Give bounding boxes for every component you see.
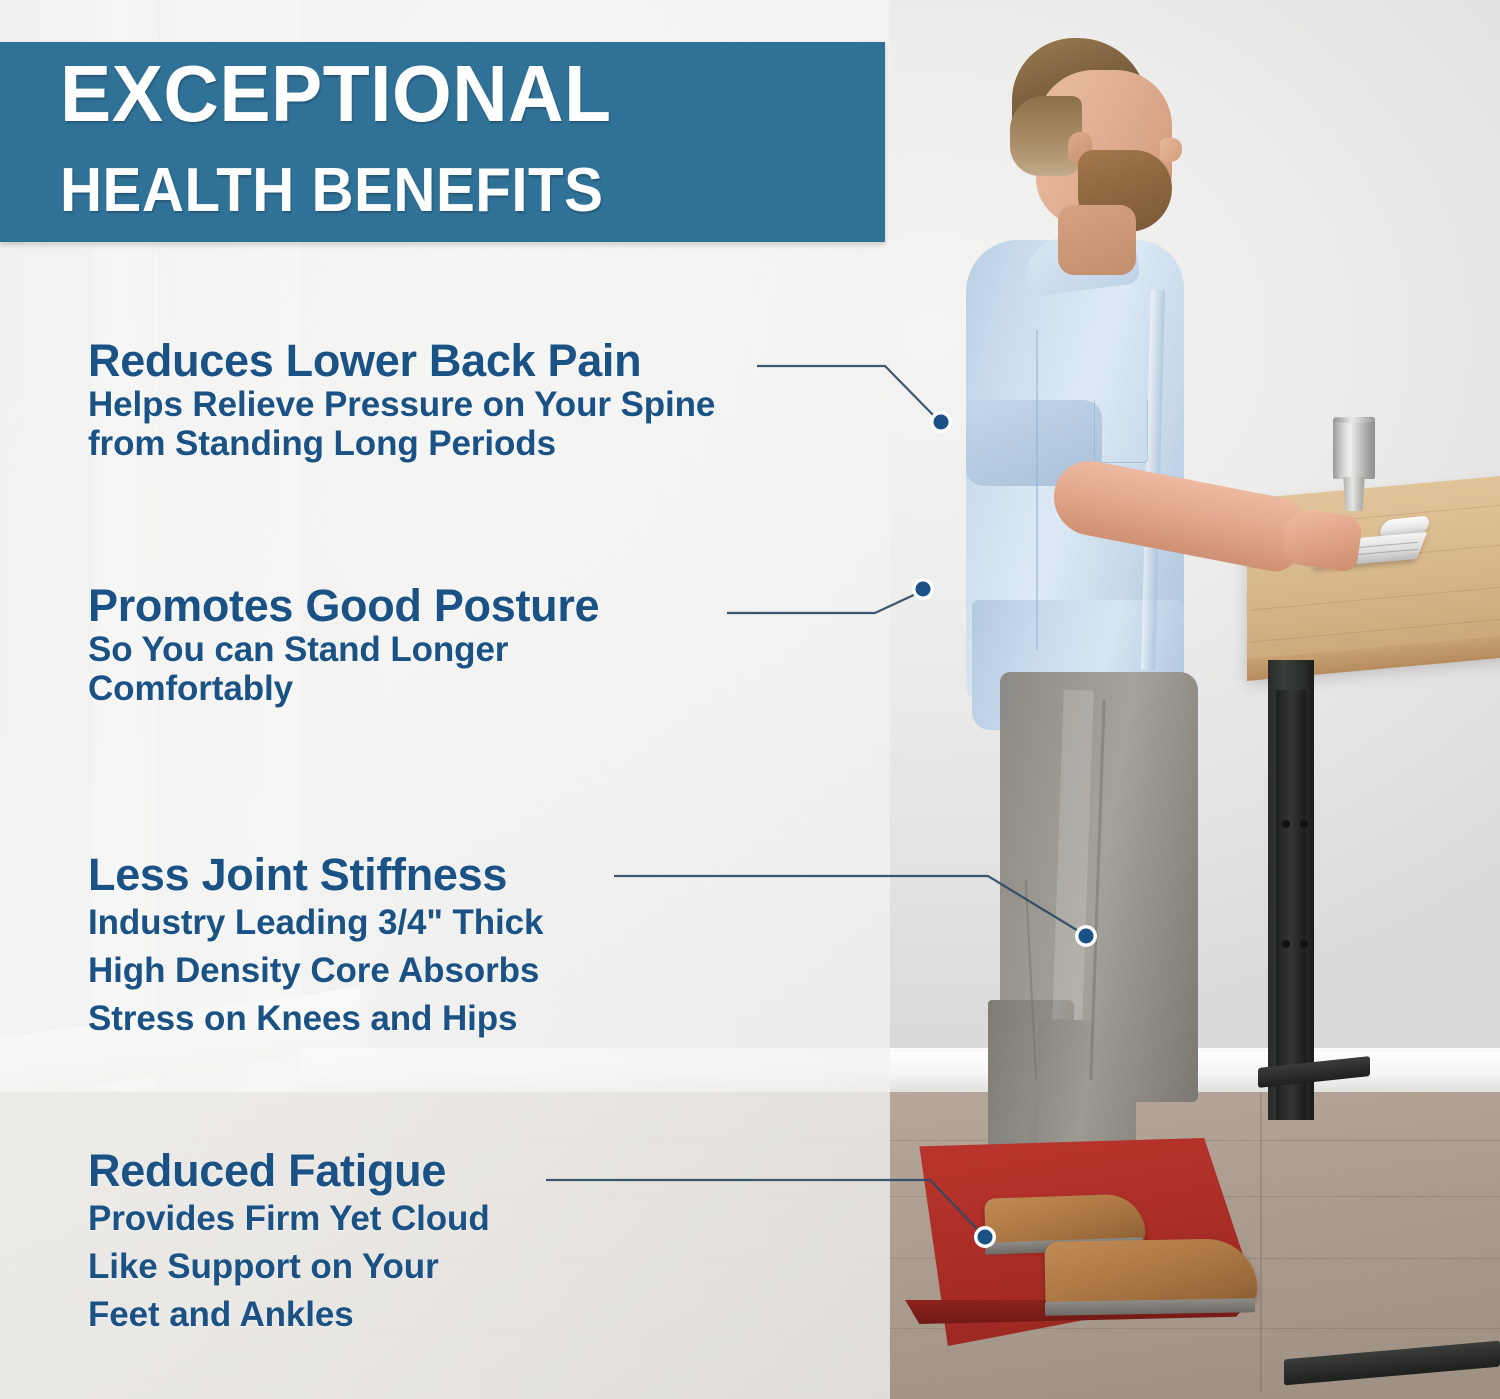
banner-title-line2: HEALTH BENEFITS (60, 160, 603, 222)
benefit-title: Reduced Fatigue (88, 1148, 788, 1195)
benefit-body-line: Stress on Knees and Hips (88, 995, 788, 1043)
banner-title-line1: EXCEPTIONAL (60, 54, 611, 134)
benefit-promotes-good-posture: Promotes Good Posture So You can Stand L… (88, 583, 788, 709)
benefit-body-line: High Density Core Absorbs (88, 947, 788, 995)
benefit-title: Reduces Lower Back Pain (88, 338, 788, 385)
hand (1280, 507, 1363, 573)
benefit-body-line: Helps Relieve Pressure on Your Spine (88, 385, 788, 425)
benefit-body-line: Comfortably (88, 669, 788, 709)
benefit-body: Industry Leading 3/4" Thick High Density… (88, 899, 788, 1044)
benefit-body-line: Like Support on Your (88, 1243, 788, 1291)
neck (1058, 205, 1136, 275)
benefit-title: Less Joint Stiffness (88, 852, 788, 899)
benefit-body: So You can Stand Longer Comfortably (88, 630, 788, 709)
benefit-reduced-fatigue: Reduced Fatigue Provides Firm Yet Cloud … (88, 1148, 788, 1340)
benefit-reduces-lower-back-pain: Reduces Lower Back Pain Helps Relieve Pr… (88, 338, 788, 464)
header-banner: EXCEPTIONAL HEALTH BENEFITS (0, 42, 885, 242)
benefit-body-line: from Standing Long Periods (88, 424, 788, 464)
benefit-less-joint-stiffness: Less Joint Stiffness Industry Leading 3/… (88, 852, 788, 1044)
benefit-title: Promotes Good Posture (88, 583, 788, 630)
benefit-body-line: So You can Stand Longer (88, 630, 788, 670)
shirt-pocket (1094, 400, 1148, 463)
nose (1160, 138, 1182, 162)
product-benefits-infographic: EXCEPTIONAL HEALTH BENEFITS Reduces Lowe… (0, 0, 1500, 1399)
benefit-body: Provides Firm Yet Cloud Like Support on … (88, 1195, 788, 1340)
benefit-body-line: Industry Leading 3/4" Thick (88, 899, 788, 947)
benefit-body-line: Provides Firm Yet Cloud (88, 1195, 788, 1243)
benefit-body: Helps Relieve Pressure on Your Spine fro… (88, 385, 788, 464)
benefit-body-line: Feet and Ankles (88, 1291, 788, 1339)
